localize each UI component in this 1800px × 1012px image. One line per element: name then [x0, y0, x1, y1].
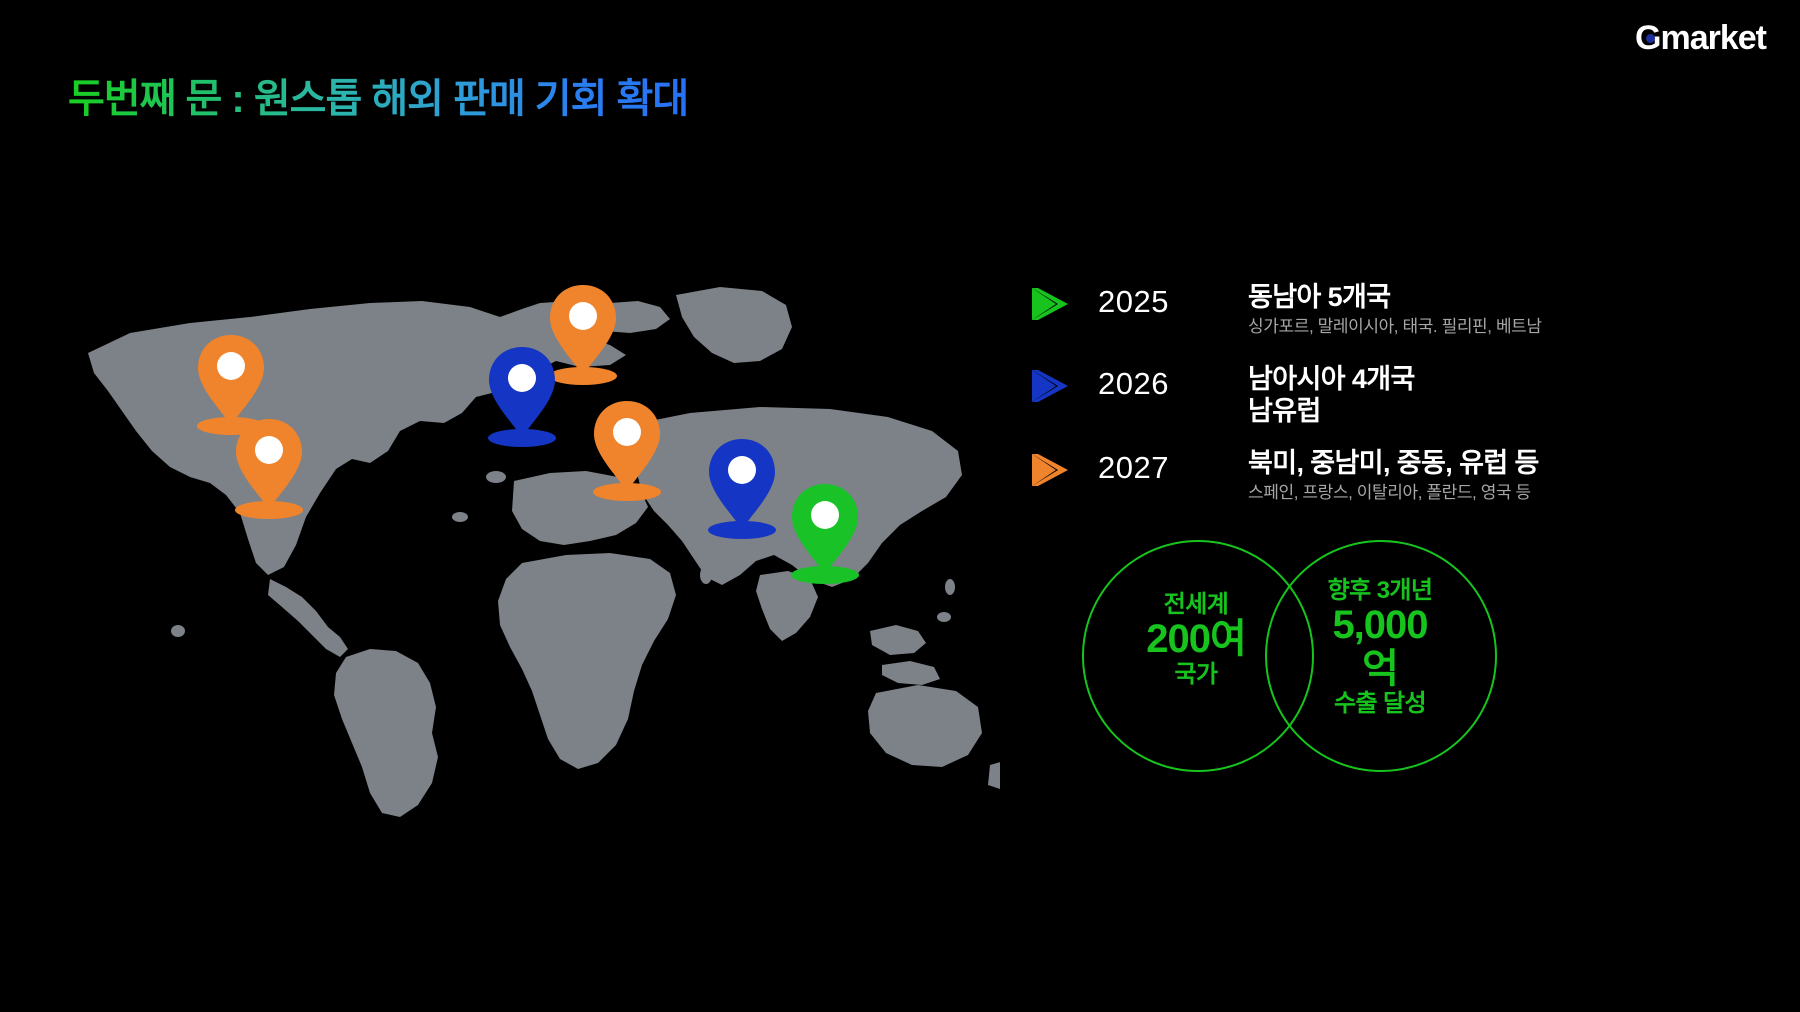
- logo-dot-icon: [1646, 34, 1655, 43]
- land-southeast-asia: [870, 625, 926, 655]
- pin-western-europe[interactable]: [483, 345, 561, 449]
- land-new-zealand: [988, 761, 1000, 789]
- venn-right-line3: 억: [1270, 648, 1490, 691]
- venn-right-line2: 5,000: [1270, 604, 1490, 647]
- legend-title: 동남아 5개국: [1248, 282, 1578, 314]
- legend-title: 북미, 중남미, 중동, 유럽 등: [1248, 448, 1578, 480]
- chevron-right-icon: [1028, 450, 1076, 490]
- pin-middle-east[interactable]: [588, 399, 666, 503]
- page-title: 두번째 문 : 원스톱 해외 판매 기회 확대: [68, 66, 688, 124]
- land-south-america: [334, 649, 438, 817]
- land-island-g: [486, 471, 506, 483]
- venn-right-line1: 향후 3개년: [1270, 578, 1490, 604]
- legend-subtitle: 스페인, 프랑스, 이탈리아, 폴란드, 영국 등: [1248, 482, 1578, 504]
- legend-title: 남아시아 4개국남유럽: [1248, 364, 1578, 428]
- gmarket-logo: Gmarket: [1635, 16, 1766, 60]
- legend-year: 2025: [1098, 282, 1248, 322]
- land-australia: [868, 685, 982, 767]
- land-island-c: [937, 612, 951, 622]
- legend-year: 2026: [1098, 364, 1248, 404]
- land-central-america: [268, 579, 348, 657]
- chevron-right-icon: [1028, 366, 1076, 406]
- land-island-b: [700, 566, 712, 584]
- venn-diagram: 전세계 200여 국가 향후 3개년 5,000 억 수출 달성: [1082, 540, 1502, 770]
- legend-body: 남아시아 4개국남유럽: [1248, 364, 1578, 428]
- venn-right-line4: 수출 달성: [1270, 691, 1490, 717]
- legend-body: 북미, 중남미, 중동, 유럽 등스페인, 프랑스, 이탈리아, 폴란드, 영국…: [1248, 448, 1578, 504]
- land-greenland: [676, 287, 792, 363]
- land-island-a: [727, 544, 745, 558]
- legend-body: 동남아 5개국싱가포르, 말레이시아, 태국. 필리핀, 베트남: [1248, 282, 1578, 338]
- land-island-d: [945, 579, 955, 595]
- logo-word: market: [1660, 19, 1766, 57]
- legend-row-2025[interactable]: 2025동남아 5개국싱가포르, 말레이시아, 태국. 필리핀, 베트남: [1028, 282, 1578, 338]
- legend-row-2027[interactable]: 2027북미, 중남미, 중동, 유럽 등스페인, 프랑스, 이탈리아, 폴란드…: [1028, 448, 1578, 504]
- land-africa: [498, 553, 676, 769]
- pin-southeast-asia[interactable]: [786, 482, 864, 586]
- legend-year: 2027: [1098, 448, 1248, 488]
- land-island-f: [452, 512, 468, 522]
- pin-north-america-south[interactable]: [230, 417, 308, 521]
- land-indonesia: [882, 661, 940, 685]
- legend-row-2026[interactable]: 2026남아시아 4개국남유럽: [1028, 364, 1578, 428]
- legend-subtitle: 싱가포르, 말레이시아, 태국. 필리핀, 베트남: [1248, 316, 1578, 338]
- chevron-right-icon: [1028, 284, 1076, 324]
- logo-text: Gmarket: [1635, 21, 1766, 55]
- pin-south-asia[interactable]: [703, 437, 781, 541]
- land-island-e: [171, 625, 185, 637]
- venn-right-text: 향후 3개년 5,000 억 수출 달성: [1270, 578, 1490, 717]
